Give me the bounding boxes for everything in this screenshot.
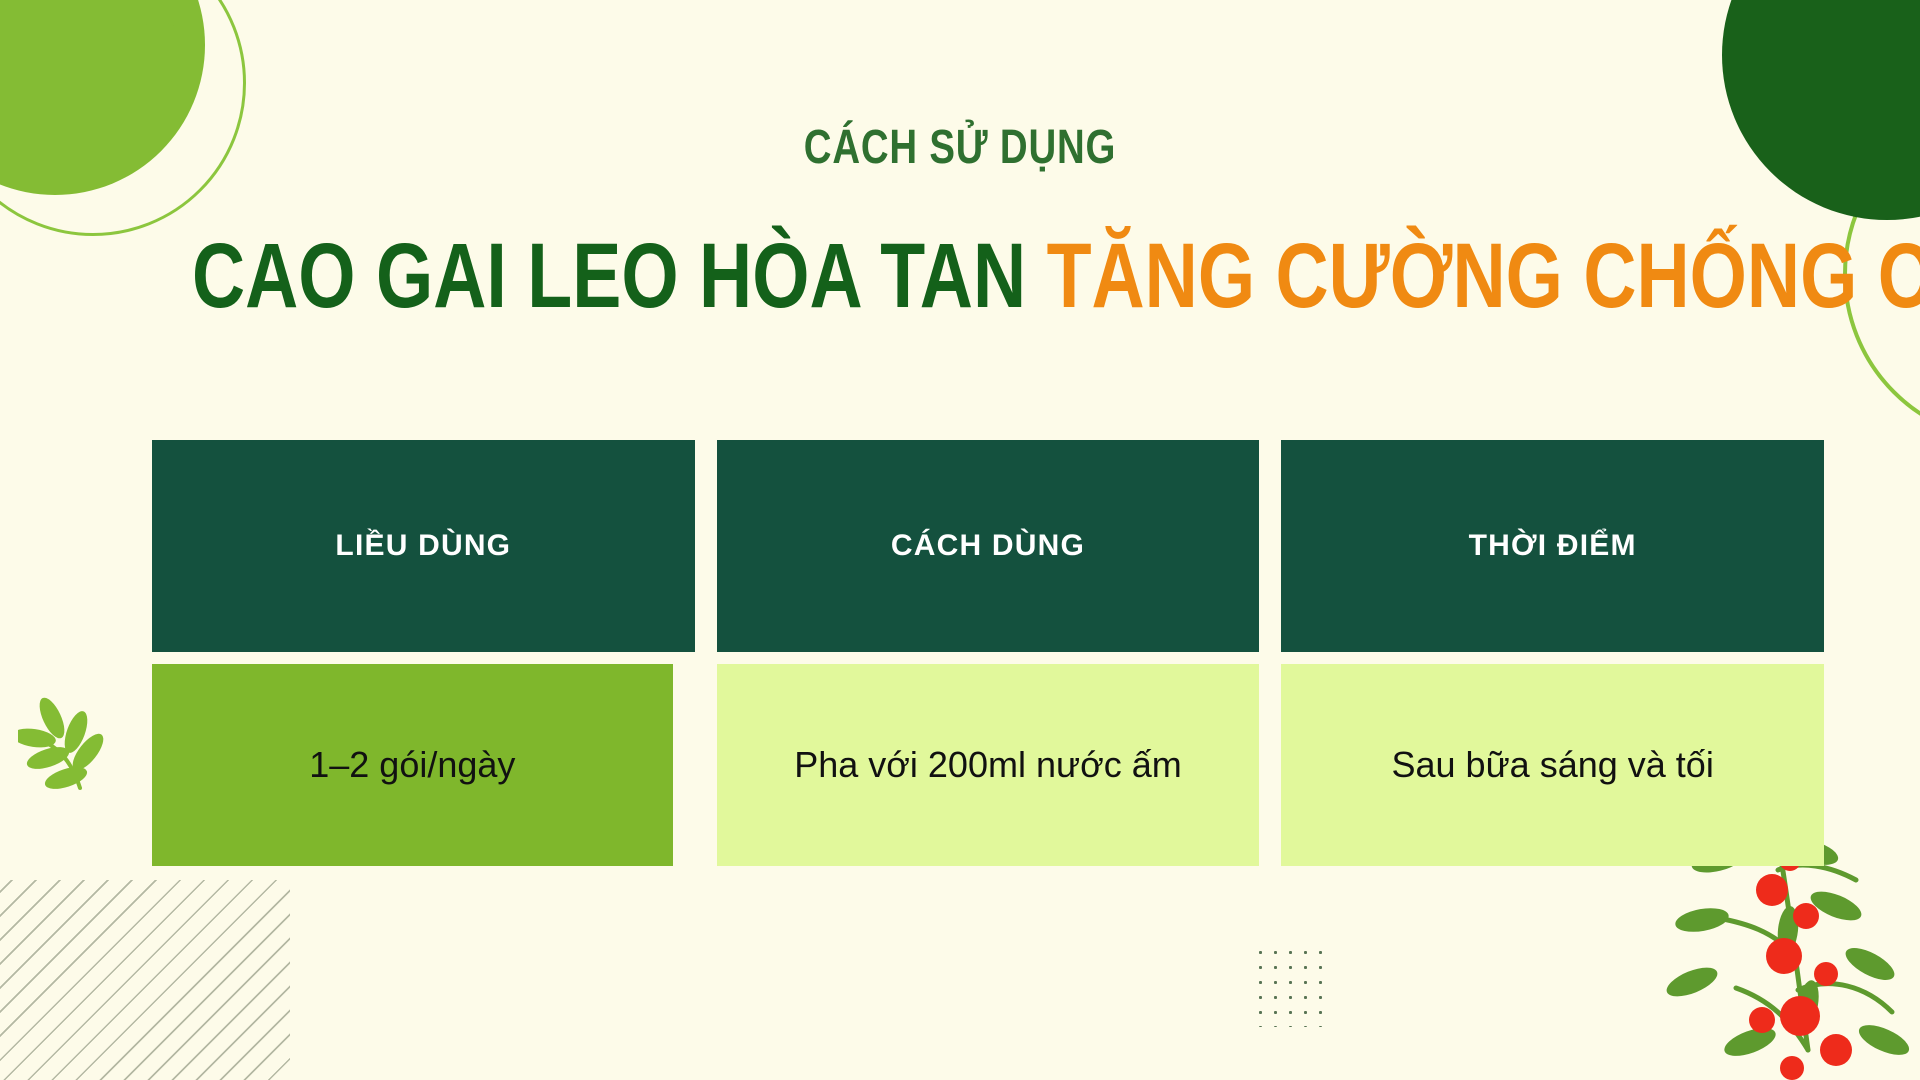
table-data-cell: Sau bữa sáng và tối (1281, 664, 1824, 866)
table-data-cell: Pha với 200ml nước ấm (717, 664, 1260, 866)
usage-table: LIỀU DÙNG CÁCH DÙNG THỜI ĐIỂM 1–2 gói/ng… (152, 440, 1824, 866)
leaf-sprig-icon (18, 690, 148, 810)
page-title-part-2: TĂNG CƯỜNG CHỐNG OXY HÓA (1047, 225, 1920, 327)
dot-grid-icon (1253, 945, 1331, 1027)
table-header-cell: THỜI ĐIỂM (1281, 440, 1824, 652)
page-title: CAO GAI LEO HÒA TAN TĂNG CƯỜNG CHỐNG OXY… (192, 230, 1728, 322)
table-data-cell: 1–2 gói/ngày (152, 664, 673, 866)
table-header-cell: LIỀU DÙNG (152, 440, 695, 652)
table-header-cell: CÁCH DÙNG (717, 440, 1260, 652)
page-eyebrow: CÁCH SỬ DỤNG (192, 120, 1728, 175)
green-ring-icon (0, 0, 246, 236)
diagonal-lines-icon (0, 880, 290, 1080)
poster-canvas: CÁCH SỬ DỤNG CAO GAI LEO HÒA TAN TĂNG CƯ… (0, 0, 1920, 1080)
page-title-part-1: CAO GAI LEO HÒA TAN (192, 225, 1047, 327)
dark-green-circle-icon (1722, 0, 1920, 220)
green-dot-icon (128, 22, 190, 84)
green-circle-icon (0, 0, 205, 195)
